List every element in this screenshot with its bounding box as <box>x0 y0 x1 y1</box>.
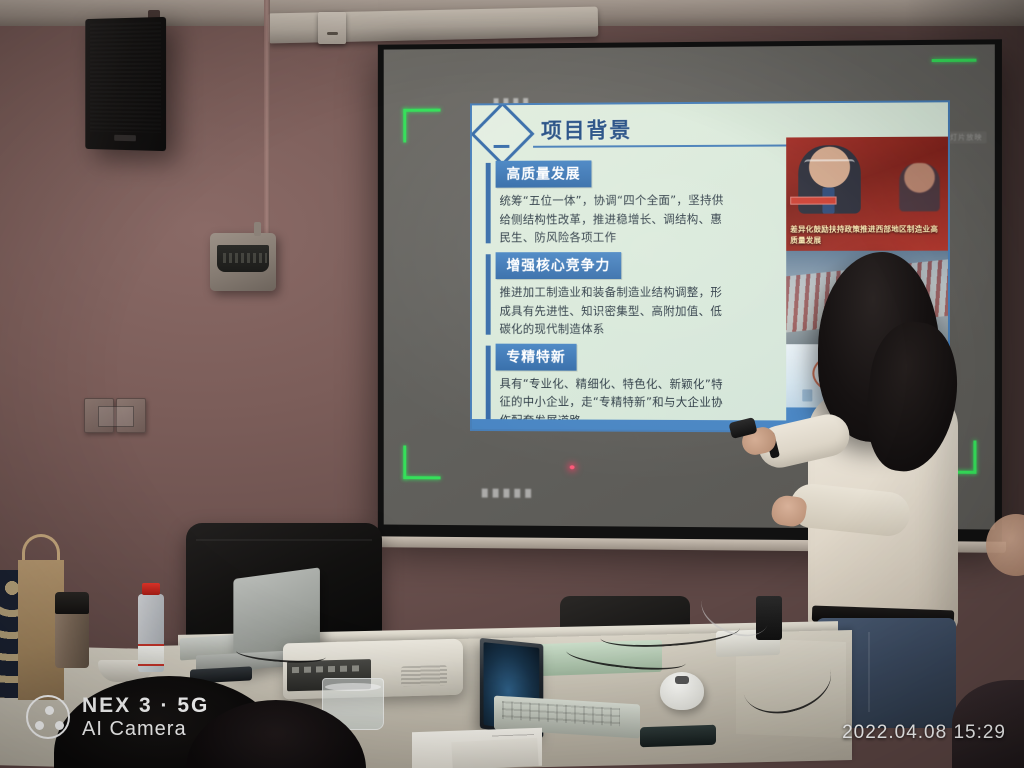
wall-conduit <box>264 0 270 245</box>
camera-watermark: NEX 3 · 5G AI Camera <box>26 694 209 740</box>
news-headline: 差异化鼓励扶持政策推进西部地区制造业高质量发展 <box>790 224 944 246</box>
news-channel-bug <box>790 196 836 204</box>
faint-overlay-dashes-bottom <box>482 489 531 498</box>
water-bottle <box>138 594 164 672</box>
section-text-2: 推进加工制造业和装备制造业结构调整，形成具有先进性、知识密集型、高附加值、低碳化… <box>500 283 730 339</box>
section-text-1: 统筹“五位一体”，协调“四个全面”，坚持供给侧结构性改革，推进稳增长、调结构、惠… <box>500 191 730 247</box>
laser-pointer-dot <box>570 465 575 469</box>
thermostat-conduit <box>254 222 261 236</box>
glasses-icon <box>804 159 854 166</box>
screen-roller-housing <box>318 12 346 44</box>
diamond-tick-icon <box>494 145 510 148</box>
thermos-tumbler <box>55 592 89 668</box>
water-bottle-cap <box>142 583 160 595</box>
camera-brand-model: NEX 3 · 5G <box>82 694 209 718</box>
photo-scene: □ 幻灯片放映 项目背景 高质量发展 统筹“五位一体”，协调“四个全面”，坚持供… <box>0 0 1024 768</box>
photo-timestamp: 2022.04.08 15:29 <box>842 722 1006 744</box>
paper-documents-secondary <box>451 738 538 768</box>
thermos-cap <box>55 592 89 614</box>
light-switches[interactable] <box>84 398 146 433</box>
slide-title: 项目背景 <box>541 114 632 144</box>
section-tag-3: 专精特新 <box>496 343 577 370</box>
camera-watermark-text: NEX 3 · 5G AI Camera <box>82 694 209 740</box>
projector-vent <box>401 665 447 686</box>
section-tag-1: 高质量发展 <box>496 160 592 187</box>
diamond-decoration-icon <box>470 102 534 167</box>
water-bottle-label <box>138 644 164 666</box>
slide-news-photo: 差异化鼓励扶持政策推进西部地区制造业高质量发展 <box>786 137 948 251</box>
wall-thermostat[interactable] <box>210 233 276 291</box>
wall-speaker <box>85 17 166 151</box>
camera-lens-icon <box>26 695 70 739</box>
news-photo-audience <box>899 163 940 212</box>
speaker-logo <box>114 135 136 141</box>
light-switch-plate-2[interactable] <box>116 398 146 433</box>
smartphone-right[interactable] <box>640 725 716 748</box>
camera-brand-tagline: AI Camera <box>82 718 209 740</box>
section-tag-2: 增强核心竞争力 <box>496 252 622 279</box>
thermostat-display <box>217 245 269 272</box>
white-mouse[interactable] <box>660 672 704 710</box>
laptop-keyboard[interactable] <box>502 701 620 726</box>
